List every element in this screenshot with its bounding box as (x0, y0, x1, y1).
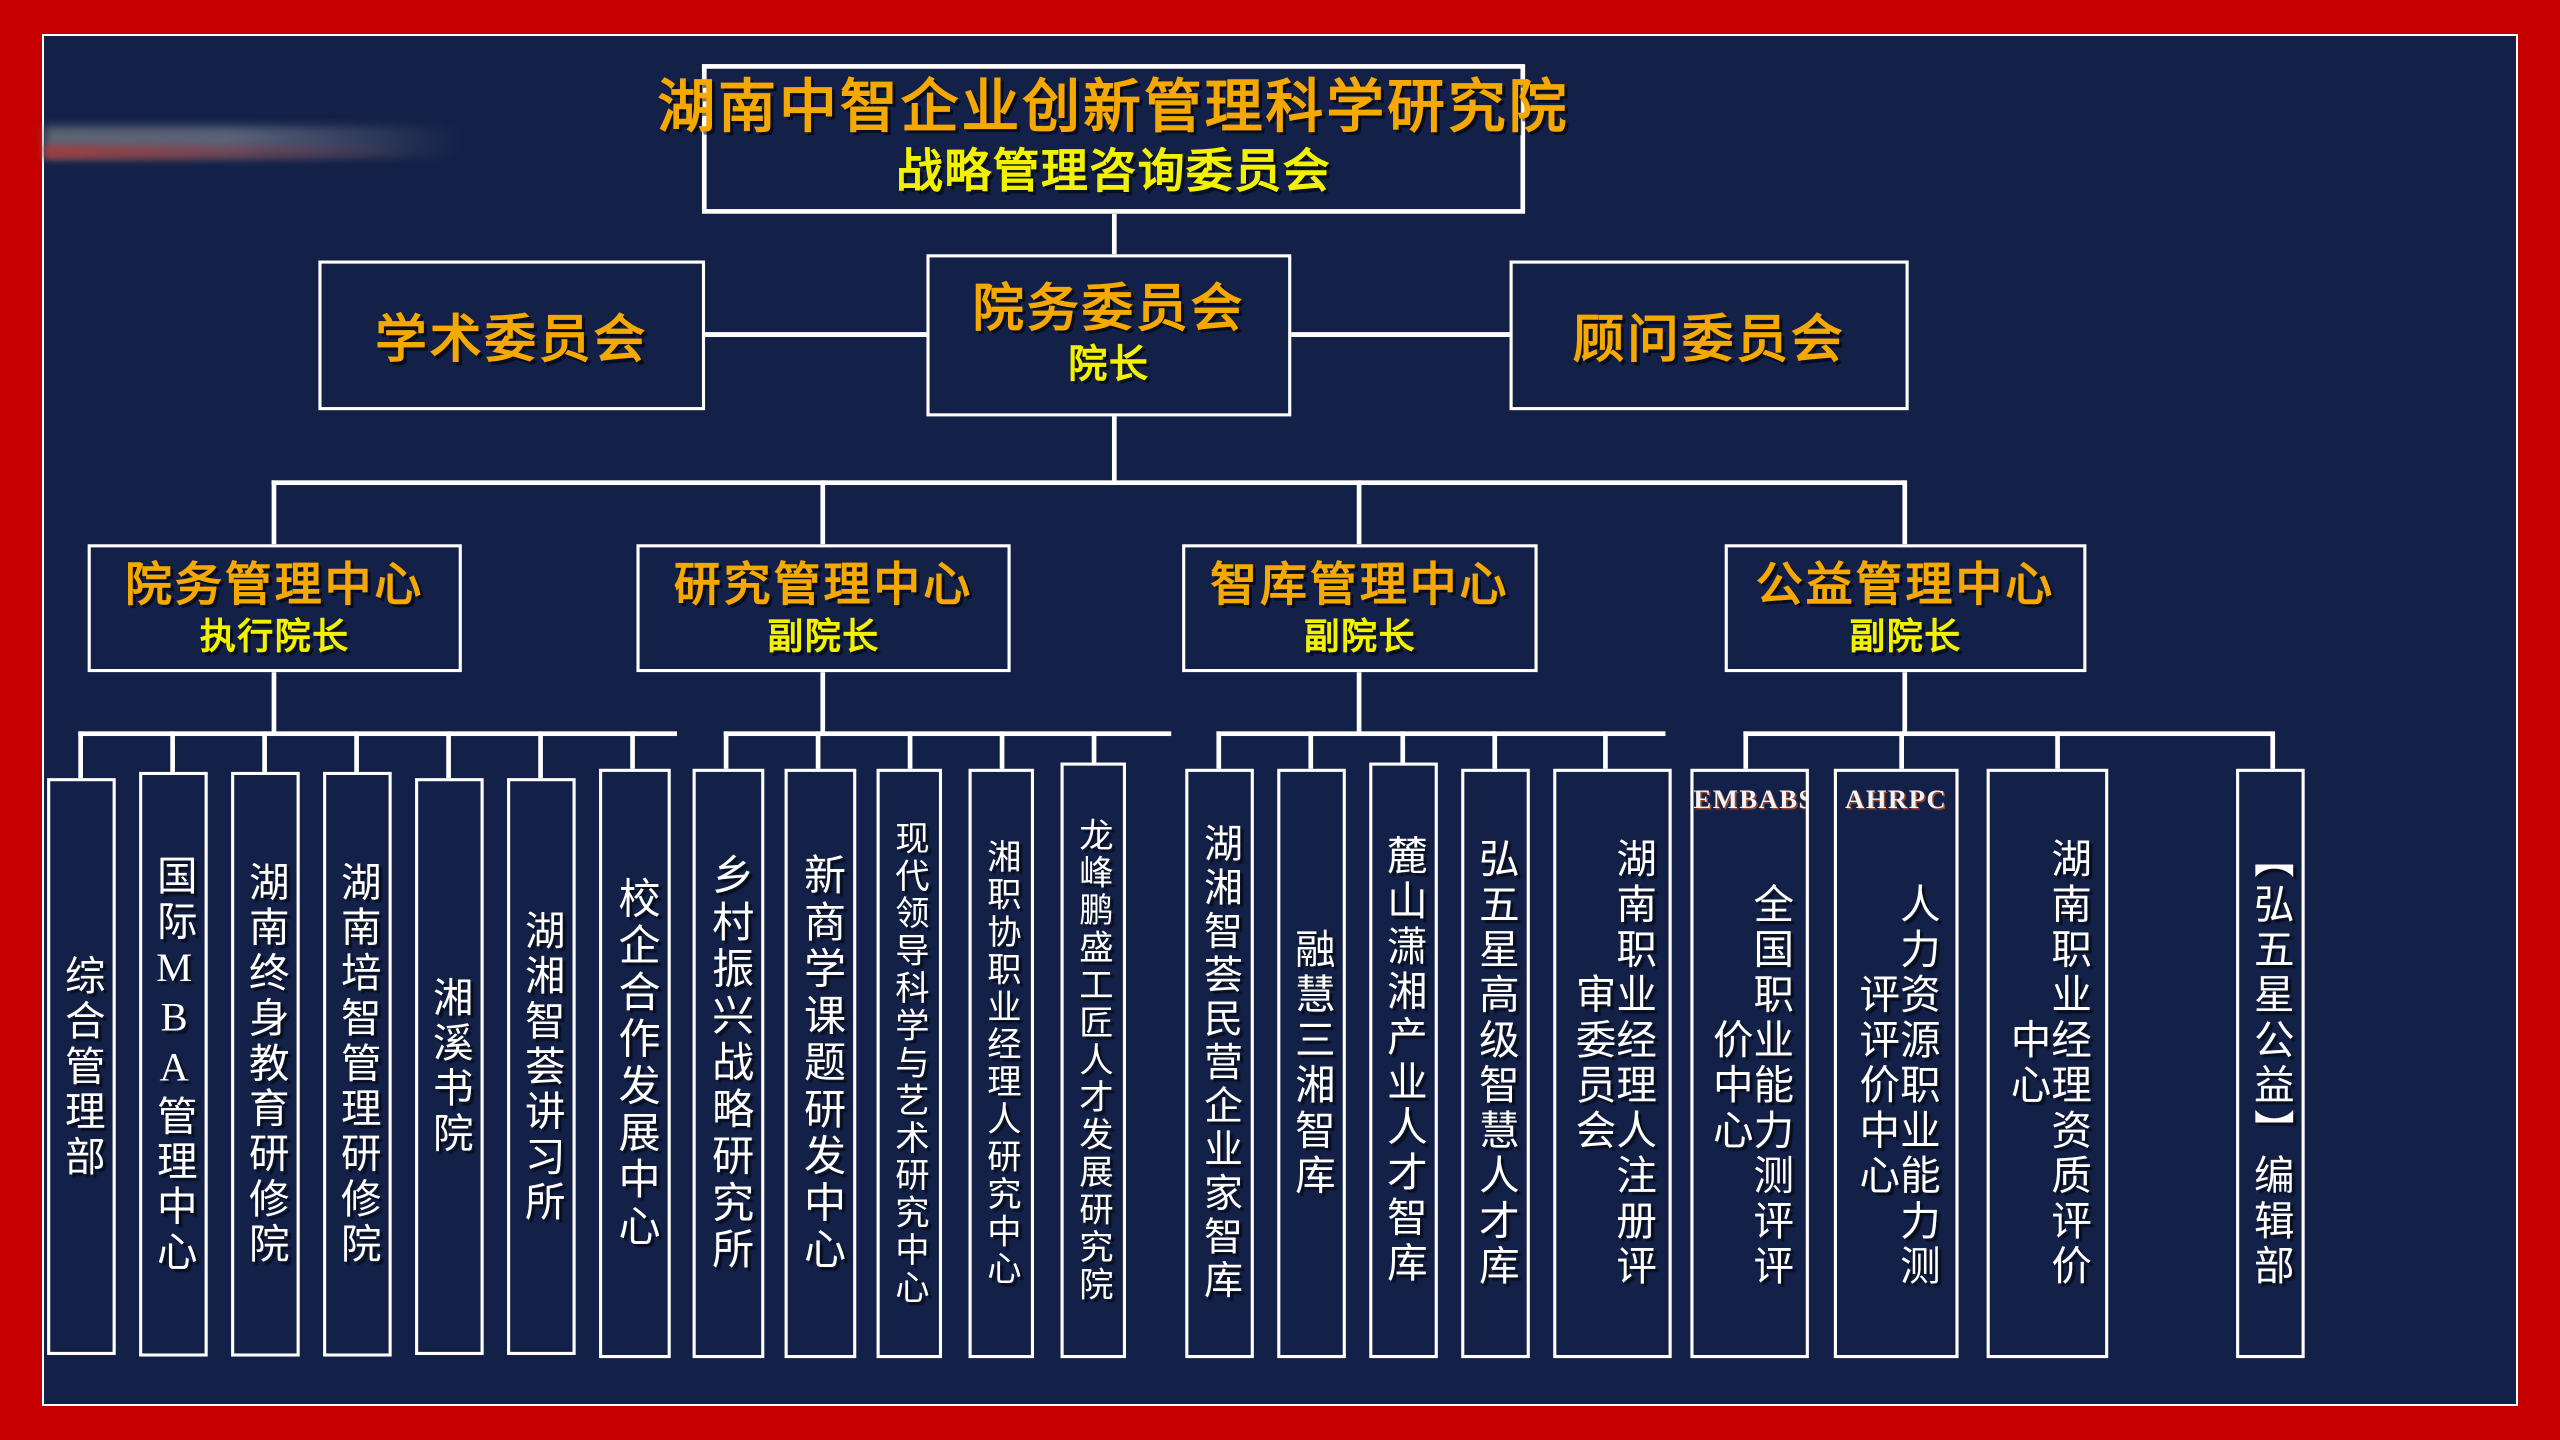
connector-center-0-down (272, 480, 277, 544)
center-0-subtitle: 执行院长 (200, 614, 350, 659)
leaf-new-business-research-center[interactable]: 新商学课题研发中心 (785, 769, 857, 1358)
node-executive-subtitle: 院长 (1068, 342, 1149, 392)
leaf-label: 湖南培智管理研修院 (337, 861, 378, 1268)
leaf-abbr-embabs: EMBABS (1694, 784, 1806, 815)
connector-leaf-4 (446, 731, 451, 778)
leaf-huxiang-zhihui-lecture-hall[interactable]: 湖湘智荟讲习所 (507, 778, 576, 1355)
leaf-label: 综合管理部 (61, 954, 102, 1180)
leaf-hunan-manager-registration-committee[interactable]: 湖南职业经理人注册评审委员会 (1553, 769, 1671, 1358)
leaf-label: 湘溪书院 (429, 976, 470, 1157)
connector-group-1-bus (724, 731, 1171, 736)
connector-group-0-down (272, 672, 277, 734)
connector-leaf-5 (538, 731, 543, 778)
connector-center-1-down (820, 480, 825, 544)
connector-group-2-bus (1216, 731, 1665, 736)
center-3-subtitle: 副院长 (1849, 614, 1961, 659)
leaf-abbr-ahrpc: AHRPC (1837, 784, 1955, 815)
leaf-huxiang-private-entrepreneur-tank[interactable]: 湖湘智荟民营企业家智库 (1185, 769, 1254, 1358)
leaf-international-mba-center[interactable]: 国际MBA管理中心 (139, 772, 208, 1357)
connector-group-2-down (1357, 672, 1362, 734)
leaf-label: 人力资源职业能力测评评价中心 (1856, 871, 1937, 1300)
leaf-hongwuxing-charity-editorial-dept[interactable]: 【弘五星公益】编辑部 (2236, 769, 2305, 1358)
node-center-think-tank[interactable]: 智库管理中心 副院长 (1182, 544, 1537, 672)
decorative-streak (44, 126, 462, 157)
leaf-label: 湖南终身教育研修院 (245, 861, 286, 1268)
connector-group-3-down (1902, 672, 1907, 734)
leaf-xiangzhi-manager-research-center[interactable]: 湘职协职业经理人研究中心 (969, 769, 1034, 1358)
leaf-label: 麓山潇湘产业人才智库 (1383, 834, 1424, 1286)
node-executive-title: 院务委员会 (972, 279, 1245, 341)
leaf-label: 龙峰鹏盛工匠人才发展研究院 (1076, 817, 1110, 1303)
leaf-comprehensive-management-dept[interactable]: 综合管理部 (47, 778, 116, 1355)
connector-advisory-stub (1291, 332, 1509, 337)
decorative-streak-red (44, 145, 418, 159)
leaf-label: 【弘五星公益】编辑部 (2250, 837, 2291, 1289)
leaf-hunan-lifelong-education-institute[interactable]: 湖南终身教育研修院 (231, 772, 300, 1357)
leaf-rural-revitalization-institute[interactable]: 乡村振兴战略研究所 (693, 769, 765, 1358)
leaf-label: 湖湘智荟民营企业家智库 (1200, 823, 1239, 1303)
leaf-national-vocational-assessment-center[interactable]: EMBABS 全国职业能力测评评价中心 (1690, 769, 1808, 1358)
leaf-label: 全国职业能力测评评价中心 (1709, 871, 1790, 1300)
center-1-title: 研究管理中心 (674, 558, 973, 614)
leaf-label: 湖湘智荟讲习所 (521, 908, 562, 1224)
leaf-school-enterprise-cooperation-center[interactable]: 校企合作发展中心 (599, 769, 671, 1358)
node-center-research[interactable]: 研究管理中心 副院长 (636, 544, 1010, 672)
center-1-subtitle: 副院长 (767, 614, 879, 659)
node-root-subtitle: 战略管理咨询委员会 (896, 144, 1331, 203)
leaf-label: 乡村振兴战略研究所 (707, 853, 749, 1274)
connector-center-3-down (1902, 480, 1907, 544)
leaf-label: 融慧三湘智库 (1291, 928, 1332, 1199)
leaf-label: 弘五星高级智慧人才库 (1475, 837, 1516, 1289)
leaf-hr-vocational-assessment-center[interactable]: AHRPC 人力资源职业能力测评评价中心 (1834, 769, 1959, 1358)
org-chart-poster: 湖南中智企业创新管理科学研究院 战略管理咨询委员会 学术委员会 院务委员会 院长… (0, 0, 2560, 1440)
node-center-public-welfare[interactable]: 公益管理中心 副院长 (1725, 544, 2087, 672)
leaf-hunan-peizhi-management-institute[interactable]: 湖南培智管理研修院 (323, 772, 392, 1357)
node-academic-title: 学术委员会 (375, 298, 648, 373)
connector-group-0-bus (78, 731, 677, 736)
connector-group-1-down (820, 672, 825, 734)
leaf-longfeng-craftsman-institute[interactable]: 龙峰鹏盛工匠人才发展研究院 (1061, 763, 1126, 1359)
leaf-hongwuxing-senior-talent-pool[interactable]: 弘五星高级智慧人才库 (1461, 769, 1530, 1358)
connector-academic-stub (705, 332, 926, 337)
leaf-modern-leadership-art-center[interactable]: 现代领导科学与艺术研究中心 (877, 769, 942, 1358)
connector-root-down (1111, 214, 1116, 255)
node-root-title: 湖南中智企业创新管理科学研究院 (658, 75, 1570, 144)
leaf-label: 湖南职业经理人注册评审委员会 (1572, 837, 1653, 1289)
chart-scaler: 湖南中智企业创新管理科学研究院 战略管理咨询委员会 学术委员会 院务委员会 院长… (44, 36, 2351, 1408)
connector-exec-down (1111, 416, 1116, 481)
node-executive-committee[interactable]: 院务委员会 院长 (926, 254, 1291, 416)
leaf-label: 新商学课题研发中心 (799, 853, 841, 1274)
leaf-xiangxi-academy[interactable]: 湘溪书院 (415, 778, 484, 1355)
center-3-title: 公益管理中心 (1756, 558, 2055, 614)
node-academic-committee[interactable]: 学术委员会 (318, 261, 705, 411)
leaf-label: 湘职协职业经理人研究中心 (984, 839, 1018, 1288)
center-2-subtitle: 副院长 (1304, 614, 1416, 659)
node-center-administration[interactable]: 院务管理中心 执行院长 (88, 544, 462, 672)
leaf-label: 现代领导科学与艺术研究中心 (892, 820, 926, 1306)
leaf-hunan-manager-qualification-center[interactable]: 湖南职业经理资质评价中心 (1987, 769, 2109, 1358)
node-advisory-committee[interactable]: 顾问委员会 (1510, 261, 1909, 411)
node-root[interactable]: 湖南中智企业创新管理科学研究院 战略管理咨询委员会 (702, 64, 1525, 214)
leaf-lushan-xiaoxiang-talent-tank[interactable]: 麓山潇湘产业人才智库 (1369, 763, 1438, 1359)
node-advisory-title: 顾问委员会 (1573, 298, 1846, 373)
leaf-label: 校企合作发展中心 (614, 876, 656, 1250)
connector-group-3-bus (1743, 731, 2272, 736)
center-0-title: 院务管理中心 (125, 558, 424, 614)
center-2-title: 智库管理中心 (1210, 558, 1509, 614)
leaf-label: 国际MBA管理中心 (153, 854, 194, 1275)
connector-center-2-down (1357, 480, 1362, 544)
chart-canvas: 湖南中智企业创新管理科学研究院 战略管理咨询委员会 学术委员会 院务委员会 院长… (42, 34, 2518, 1406)
leaf-label: 湖南职业经理资质评价中心 (2007, 837, 2088, 1289)
connector-leaf-0 (78, 731, 83, 778)
leaf-ronghui-sanxiang-think-tank[interactable]: 融慧三湘智库 (1277, 769, 1346, 1358)
connector-centers-bus (272, 480, 1906, 485)
